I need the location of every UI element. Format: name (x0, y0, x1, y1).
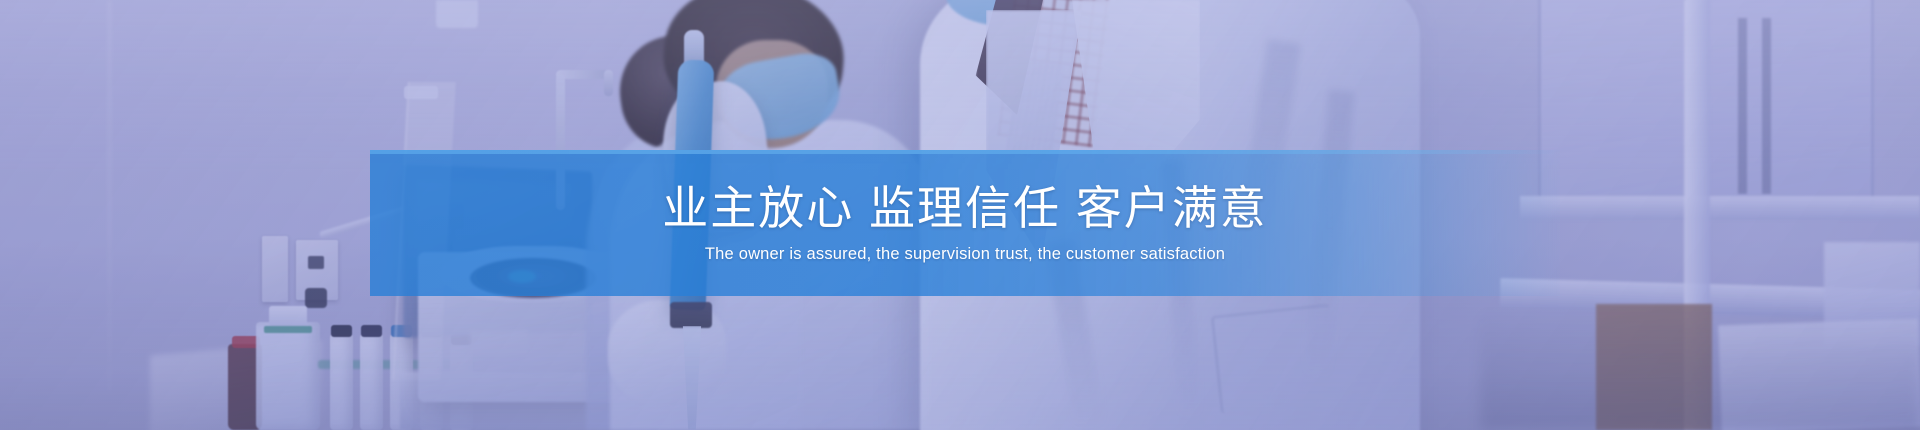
banner-subheadline: The owner is assured, the supervision tr… (705, 244, 1225, 265)
hero-banner: 业主放心 监理信任 客户满意 The owner is assured, the… (0, 0, 1920, 430)
banner-headline: 业主放心 监理信任 客户满意 (662, 181, 1268, 235)
banner-text-block: 业主放心 监理信任 客户满意 The owner is assured, the… (370, 150, 1560, 296)
